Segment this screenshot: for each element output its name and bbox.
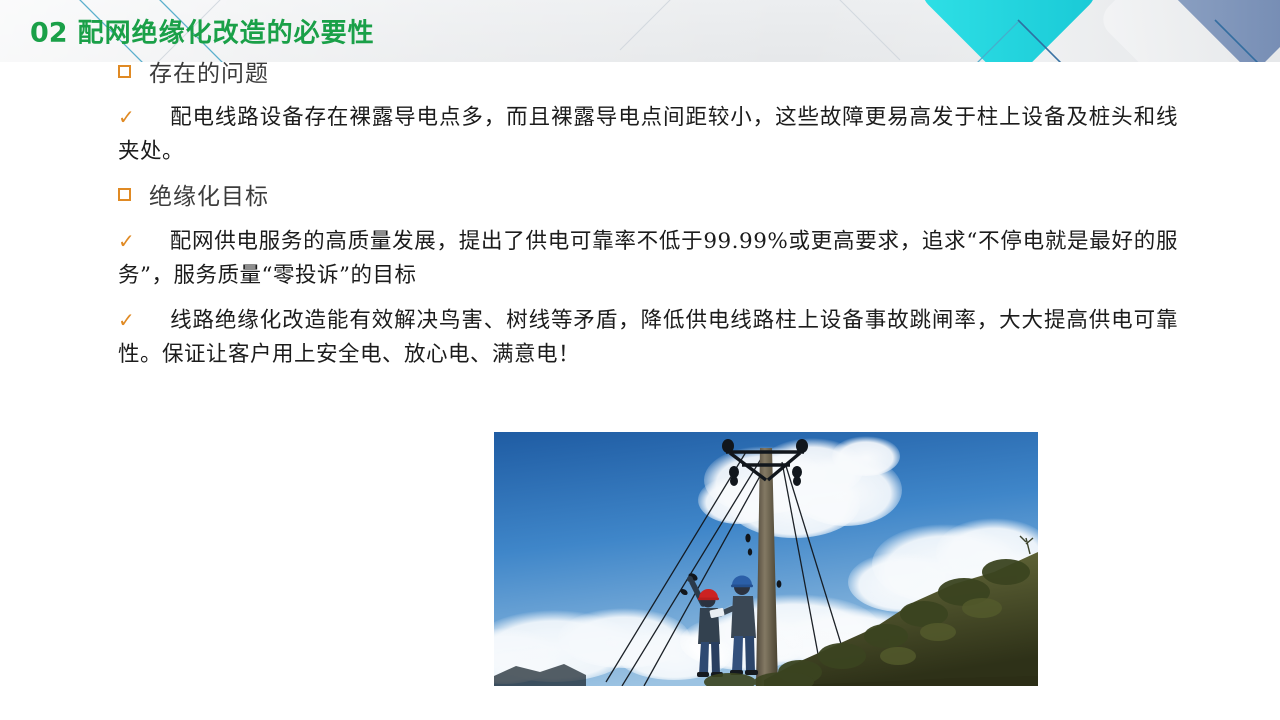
hollow-square-bullet-icon (118, 65, 131, 78)
paragraph-text: 配网供电服务的高质量发展，提出了供电可靠率不低于99.99%或更高要求，追求“不… (118, 229, 1178, 288)
utility-pole-field-photo (494, 432, 1038, 686)
section-heading-existing-problems: 存在的问题 (118, 54, 269, 88)
paragraph-text: 配电线路设备存在裸露导电点多，而且裸露导电点间距较小，这些故障更易高发于柱上设备… (118, 105, 1178, 164)
section-heading-insulation-goal: 绝缘化目标 (118, 177, 269, 211)
check-mark-icon: ✓ (118, 308, 136, 332)
hollow-square-bullet-icon (118, 188, 131, 201)
paragraph-text: 线路绝缘化改造能有效解决鸟害、树线等矛盾，降低供电线路柱上设备事故跳闸率，大大提… (118, 308, 1178, 367)
section-heading-label: 绝缘化目标 (149, 177, 269, 211)
check-mark-icon: ✓ (118, 229, 136, 253)
slide-root: 02 配网绝缘化改造的必要性 存在的问题 ✓配电线路设备存在裸露导电点多，而且裸… (0, 0, 1280, 720)
paragraph-insulation-benefits: ✓线路绝缘化改造能有效解决鸟害、树线等矛盾，降低供电线路柱上设备事故跳闸率，大大… (118, 303, 1178, 372)
check-mark-icon: ✓ (118, 105, 136, 129)
paragraph-existing-problems: ✓配电线路设备存在裸露导电点多，而且裸露导电点间距较小，这些故障更易高发于柱上设… (118, 100, 1178, 169)
section-heading-label: 存在的问题 (149, 54, 269, 88)
paragraph-reliability-target: ✓配网供电服务的高质量发展，提出了供电可靠率不低于99.99%或更高要求，追求“… (118, 224, 1178, 293)
